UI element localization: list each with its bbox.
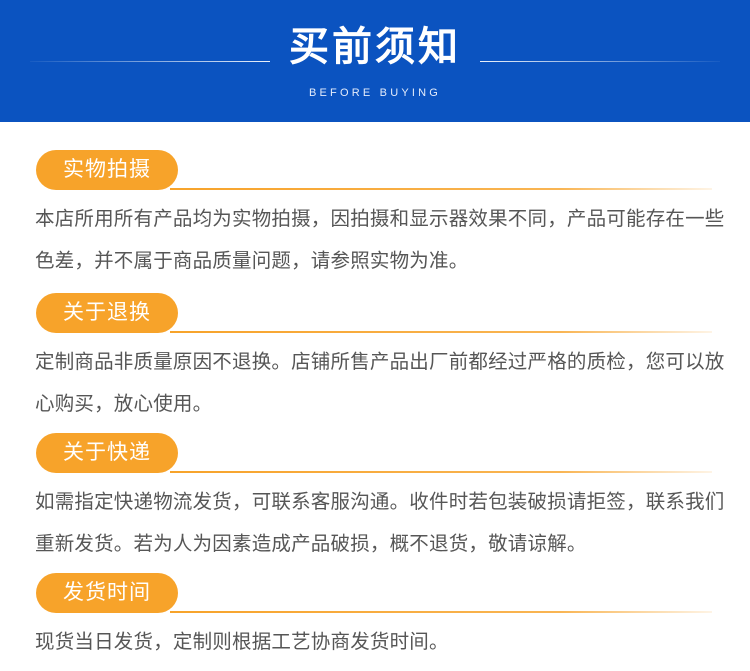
page-title: 买前须知 <box>0 23 750 71</box>
banner-inner: 买前须知 BEFORE BUYING <box>0 0 750 122</box>
section-divider <box>170 471 712 473</box>
section-heading-row: 实物拍摄 <box>0 150 750 190</box>
section-divider <box>170 331 712 333</box>
notice-section-real-photo: 实物拍摄 本店所用所有产品均为实物拍摄，因拍摄和显示器效果不同，产品可能存在一些… <box>0 150 750 190</box>
section-body-text: 现货当日发货，定制则根据工艺协商发货时间。 <box>35 621 725 663</box>
notice-section-shipping-carrier: 关于快递 如需指定快递物流发货，可联系客服沟通。收件时若包装破损请拒签，联系我们… <box>0 433 750 473</box>
page-subtitle: BEFORE BUYING <box>0 86 750 100</box>
notice-section-dispatch-time: 发货时间 现货当日发货，定制则根据工艺协商发货时间。 <box>0 573 750 613</box>
section-body-text: 本店所用所有产品均为实物拍摄，因拍摄和显示器效果不同，产品可能存在一些色差，并不… <box>35 198 725 282</box>
section-body-text: 如需指定快递物流发货，可联系客服沟通。收件时若包装破损请拒签，联系我们重新发货。… <box>35 481 725 565</box>
notice-section-returns: 关于退换 定制商品非质量原因不退换。店铺所售产品出厂前都经过严格的质检，您可以放… <box>0 293 750 333</box>
section-heading-row: 发货时间 <box>0 573 750 613</box>
section-badge: 发货时间 <box>36 573 178 613</box>
page-header-banner: 买前须知 BEFORE BUYING <box>0 0 750 122</box>
section-badge: 实物拍摄 <box>36 150 178 190</box>
section-heading-row: 关于快递 <box>0 433 750 473</box>
section-divider <box>170 188 712 190</box>
section-badge: 关于退换 <box>36 293 178 333</box>
buying-notice-page: 买前须知 BEFORE BUYING 实物拍摄 本店所用所有产品均为实物拍摄，因… <box>0 0 750 671</box>
section-body-text: 定制商品非质量原因不退换。店铺所售产品出厂前都经过严格的质检，您可以放心购买，放… <box>35 341 725 425</box>
section-badge: 关于快递 <box>36 433 178 473</box>
section-divider <box>170 611 712 613</box>
section-heading-row: 关于退换 <box>0 293 750 333</box>
